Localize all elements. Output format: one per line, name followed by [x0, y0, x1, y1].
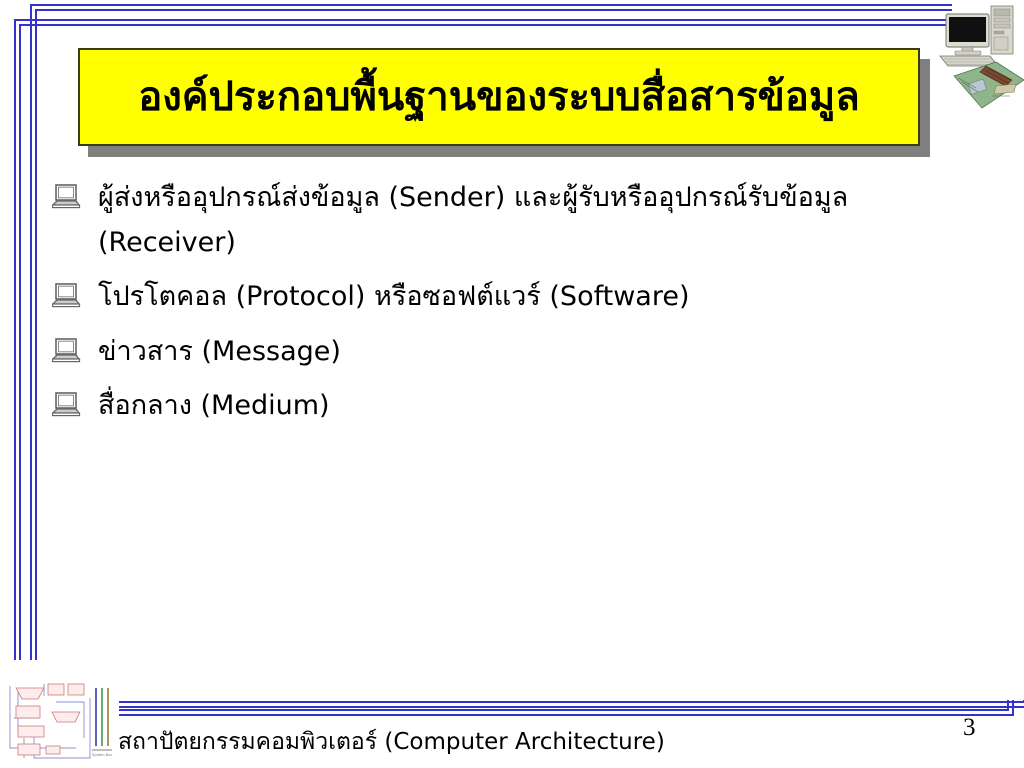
computer-icon: [52, 184, 82, 218]
computer-system-clipart: [936, 4, 1024, 116]
computer-icon: [52, 338, 82, 372]
list-item-label: สื่อกลาง (Medium): [98, 384, 330, 429]
svg-text:System Bus: System Bus: [92, 753, 112, 757]
footer-label: สถาปัตยกรรมคอมพิวเตอร์ (Computer Archite…: [118, 724, 665, 760]
slide-number: 3: [963, 714, 976, 742]
list-item-label: ข่าวสาร (Message): [98, 330, 341, 375]
computer-icon: [52, 283, 82, 317]
bullet-list: ผู้ส่งหรืออุปกรณ์ส่งข้อมูล (Sender) และผ…: [52, 176, 932, 439]
list-item: สื่อกลาง (Medium): [52, 384, 932, 429]
list-item-label: ผู้ส่งหรืออุปกรณ์ส่งข้อมูล (Sender) และผ…: [98, 176, 908, 265]
list-item: ผู้ส่งหรืออุปกรณ์ส่งข้อมูล (Sender) และผ…: [52, 176, 932, 265]
slide-canvas: องค์ประกอบพื้นฐานของระบบสื่อสารข้อมูล ผู…: [0, 0, 1024, 768]
computer-icon: [52, 392, 82, 426]
list-item: ข่าวสาร (Message): [52, 330, 932, 375]
title-box: องค์ประกอบพื้นฐานของระบบสื่อสารข้อมูล: [78, 48, 920, 146]
cpu-architecture-diagram-clipart: System Bus: [4, 672, 120, 766]
list-item: โปรโตคอล (Protocol) หรือซอฟต์แวร์ (Softw…: [52, 275, 932, 320]
list-item-label: โปรโตคอล (Protocol) หรือซอฟต์แวร์ (Softw…: [98, 275, 689, 320]
page-title: องค์ประกอบพื้นฐานของระบบสื่อสารข้อมูล: [138, 77, 860, 117]
